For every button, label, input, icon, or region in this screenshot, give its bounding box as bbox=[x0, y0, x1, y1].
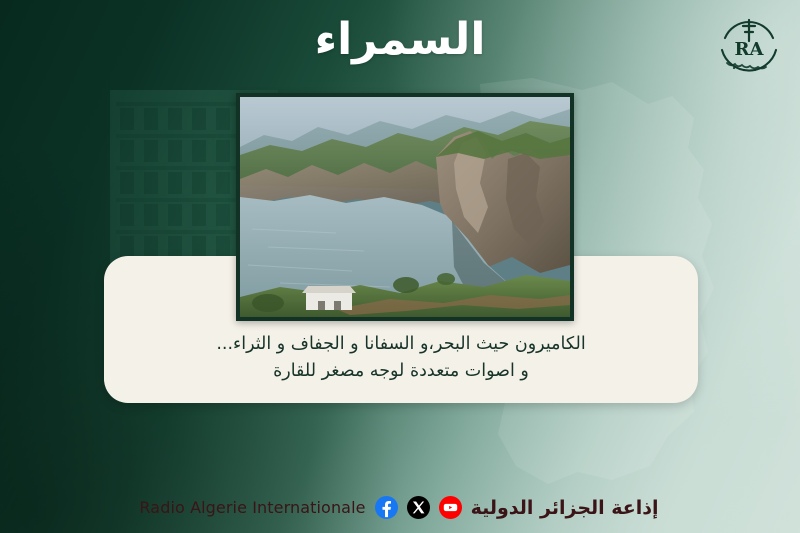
poster-canvas: السمراء RA الكاميرون bbox=[0, 0, 800, 533]
page-title: السمراء bbox=[0, 10, 800, 70]
footer-arabic-label: إذاعة الجزائر الدولية bbox=[471, 497, 659, 519]
svg-text:RA: RA bbox=[735, 39, 765, 60]
caption-line-1: الكاميرون حيث البحر،و السفانا و الجفاف و… bbox=[130, 331, 672, 358]
lake-crater-photo bbox=[236, 93, 574, 321]
youtube-icon[interactable] bbox=[439, 496, 462, 519]
footer-bar: Radio Algerie Internationale إذاعة الجزا… bbox=[0, 496, 800, 519]
caption-text: الكاميرون حيث البحر،و السفانا و الجفاف و… bbox=[104, 331, 698, 385]
caption-line-2: و اصوات متعددة لوجه مصغر للقارة bbox=[130, 358, 672, 385]
radio-algerie-logo[interactable]: RA bbox=[712, 8, 786, 82]
footer-latin-label: Radio Algerie Internationale bbox=[139, 498, 365, 517]
x-twitter-icon[interactable] bbox=[407, 496, 430, 519]
facebook-icon[interactable] bbox=[375, 496, 398, 519]
